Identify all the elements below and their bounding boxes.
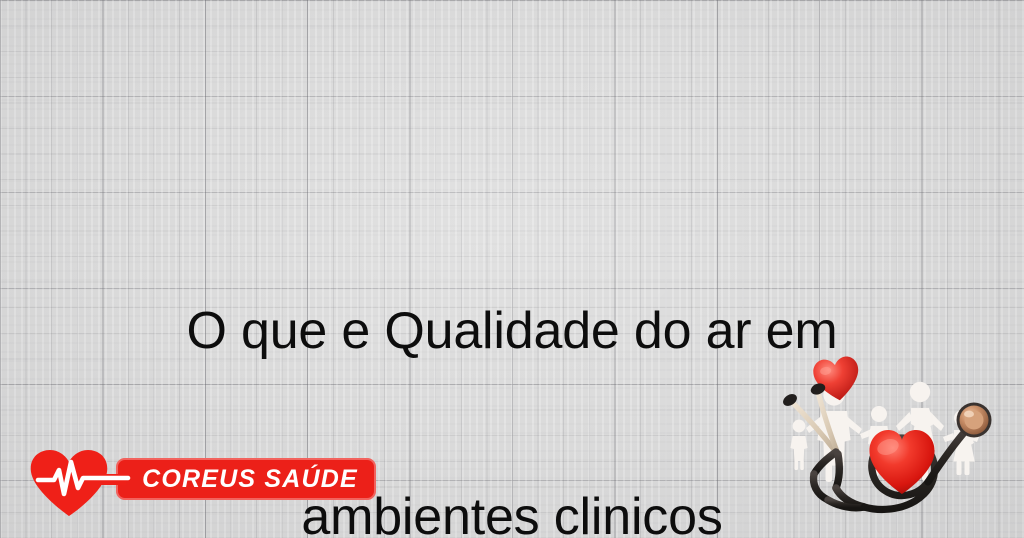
heart-pulse-icon xyxy=(28,448,148,518)
brand-badge: COREUS SAÚDE xyxy=(116,458,376,500)
stethoscope-chestpiece-icon xyxy=(957,403,992,438)
brand-wordmark: COREUS SAÚDE xyxy=(116,458,376,500)
healthcare-illustration xyxy=(778,352,1024,538)
brand-logo[interactable]: COREUS SAÚDE xyxy=(28,448,358,518)
slide-canvas: O que e Qualidade do ar em ambientes cli… xyxy=(0,0,1024,538)
